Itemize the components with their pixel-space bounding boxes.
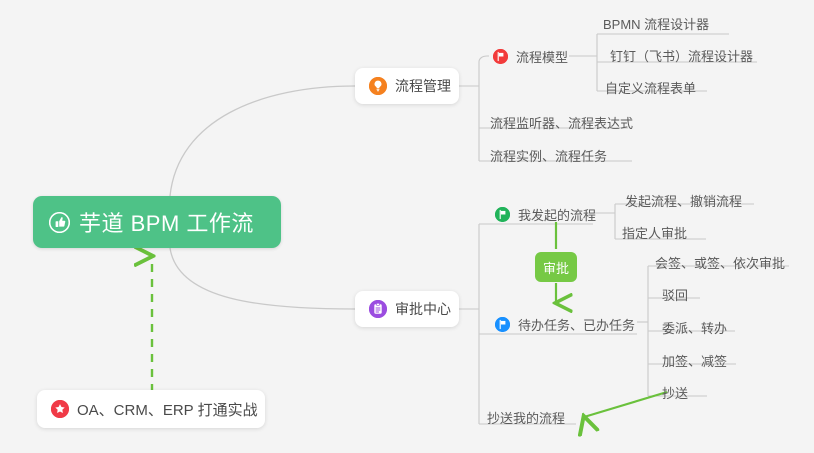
thumbs-up-icon: [49, 212, 70, 233]
node-label-carbon-copy: 抄送: [662, 383, 688, 402]
node-label-custom-form: 自定义流程表单: [605, 78, 696, 97]
node-start-cancel-process[interactable]: 发起流程、撤销流程: [625, 189, 742, 213]
node-label-process-instance: 流程实例、流程任务: [490, 146, 607, 165]
flag-icon-blue: [495, 317, 510, 332]
clipboard-icon: [369, 300, 387, 318]
node-carbon-copy[interactable]: 抄送: [662, 381, 688, 405]
node-delegate-transfer[interactable]: 委派、转办: [662, 316, 727, 340]
node-label-cc-my-process: 抄送我的流程: [487, 408, 565, 427]
node-reject[interactable]: 驳回: [662, 283, 688, 307]
node-dingtalk-designer[interactable]: 钉钉（飞书）流程设计器: [610, 44, 753, 68]
node-custom-form[interactable]: 自定义流程表单: [605, 76, 696, 100]
star-icon: [51, 400, 69, 418]
node-label-delegate-transfer: 委派、转办: [662, 318, 727, 337]
node-add-remove-sign[interactable]: 加签、减签: [662, 349, 727, 373]
node-label-dingtalk-designer: 钉钉（飞书）流程设计器: [610, 46, 753, 65]
node-label-todo-done-tasks: 待办任务、已办任务: [518, 315, 635, 334]
node-cc-my-process[interactable]: 抄送我的流程: [487, 406, 565, 430]
mindmap-canvas: 芋道 BPM 工作流 流程管理 流程模型 流程监听器、流程表达式 流程实例、流: [0, 0, 814, 453]
node-countersign-approval[interactable]: 会签、或签、依次审批: [655, 251, 785, 275]
node-label-add-remove-sign: 加签、减签: [662, 351, 727, 370]
node-process-instance[interactable]: 流程实例、流程任务: [490, 144, 607, 168]
flag-icon-red: [493, 49, 508, 64]
node-my-started-process[interactable]: 我发起的流程: [495, 203, 596, 227]
node-label-start-cancel-process: 发起流程、撤销流程: [625, 191, 742, 210]
node-label-bpmn-designer: BPMN 流程设计器: [603, 14, 709, 33]
root-node[interactable]: 芋道 BPM 工作流: [33, 196, 281, 248]
branch-node-process-management[interactable]: 流程管理: [355, 68, 459, 104]
node-process-model[interactable]: 流程模型: [493, 45, 568, 69]
approve-badge-label: 审批: [543, 258, 569, 277]
branch-label-process-management: 流程管理: [395, 76, 451, 96]
node-label-process-listener: 流程监听器、流程表达式: [490, 113, 633, 132]
node-label-assignee-approval: 指定人审批: [622, 223, 687, 242]
integration-note-node[interactable]: OA、CRM、ERP 打通实战: [37, 390, 265, 428]
node-label-my-started-process: 我发起的流程: [518, 205, 596, 224]
flag-icon-green: [495, 207, 510, 222]
branch-label-approval-center: 审批中心: [395, 299, 451, 319]
node-label-process-model: 流程模型: [516, 47, 568, 66]
integration-note-label: OA、CRM、ERP 打通实战: [77, 399, 258, 420]
approve-badge: 审批: [535, 252, 577, 282]
node-label-reject: 驳回: [662, 285, 688, 304]
node-label-countersign-approval: 会签、或签、依次审批: [655, 253, 785, 272]
node-process-listener[interactable]: 流程监听器、流程表达式: [490, 111, 633, 135]
branch-node-approval-center[interactable]: 审批中心: [355, 291, 459, 327]
node-assignee-approval[interactable]: 指定人审批: [622, 221, 687, 245]
lightbulb-icon: [369, 77, 387, 95]
root-node-label: 芋道 BPM 工作流: [79, 206, 254, 238]
node-todo-done-tasks[interactable]: 待办任务、已办任务: [495, 313, 635, 337]
node-bpmn-designer[interactable]: BPMN 流程设计器: [603, 12, 709, 36]
